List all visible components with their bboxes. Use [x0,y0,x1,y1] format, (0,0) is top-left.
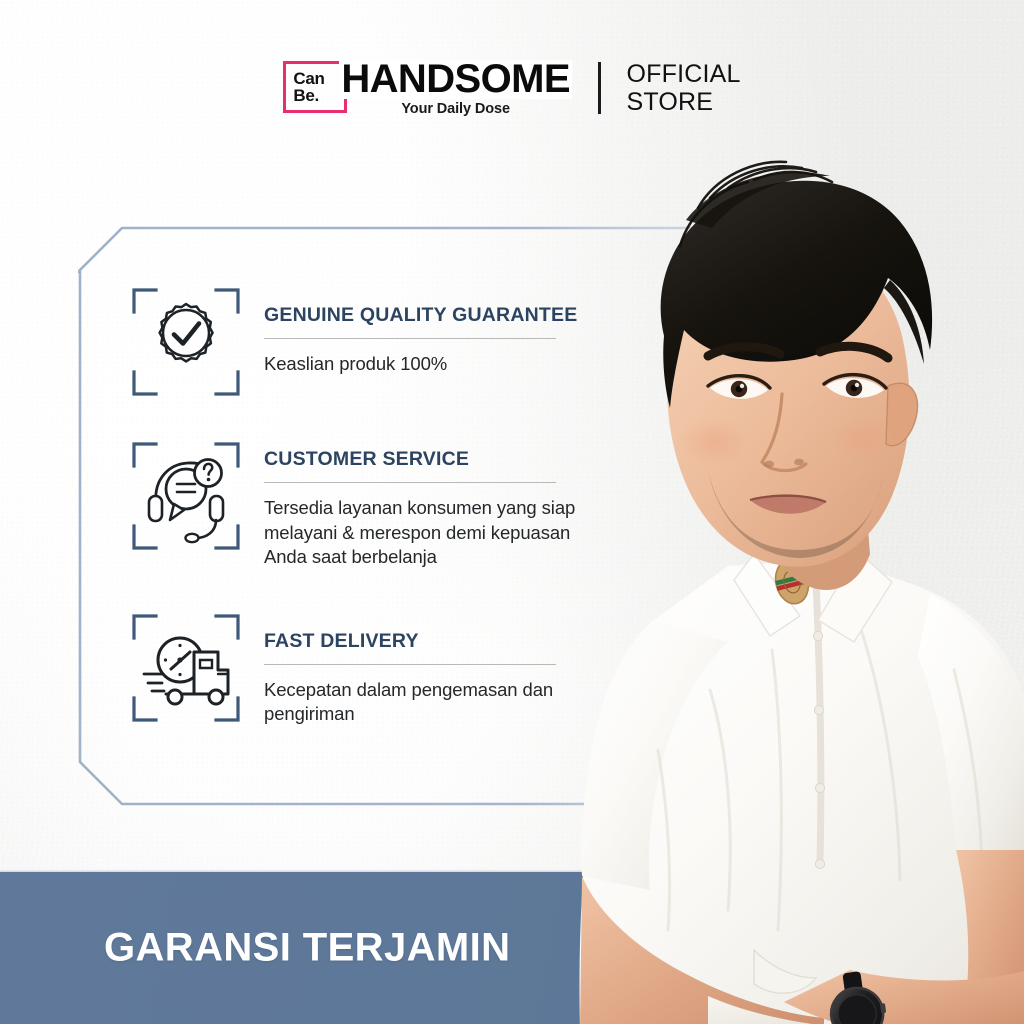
feature-title: FAST DELIVERY [264,630,600,653]
banner-title: GARANSI TERJAMIN [104,926,510,971]
cheek-left [680,418,748,466]
header-divider [598,62,601,114]
fast-delivery-truck-icon [130,612,242,724]
brand-logo-lockup[interactable]: Can Be. HANDSOME Your Daily Dose [283,58,572,117]
feature-body: FAST DELIVERY Kecepatan dalam pengemasan… [242,612,600,727]
truck-wheel-front [168,690,182,704]
nostril-right [794,459,804,466]
earcup-left [149,496,162,521]
model-photograph [558,150,1024,1024]
earcup-right [210,496,223,521]
brand-tagline: Your Daily Dose [401,101,510,117]
truck-wheel-rear [209,690,223,704]
feature-title: CUSTOMER SERVICE [264,448,600,471]
feature-description: Tersedia layanan konsumen yang siap mela… [264,496,576,570]
official-store-line-2: STORE [627,88,741,116]
feature-list: GENUINE QUALITY GUARANTEE Keaslian produ… [130,286,600,727]
feature-item-genuine-quality: GENUINE QUALITY GUARANTEE Keaslian produ… [130,286,600,398]
feature-item-customer-service: CUSTOMER SERVICE Tersedia layanan konsum… [130,440,600,570]
mic-capsule [186,534,199,542]
quality-badge-check-icon-wrap [130,286,242,398]
feature-divider [264,664,556,665]
poster-canvas: Can Be. HANDSOME Your Daily Dose OFFICIA… [0,0,1024,1024]
headset-support-icon-wrap [130,440,242,552]
nostril-left [764,461,774,468]
canbe-badge: Can Be. [283,61,347,113]
wordmark-wrapper: HANDSOME Your Daily Dose [339,58,572,117]
fast-delivery-truck-icon-wrap [130,612,242,724]
gauge-pivot [177,657,182,662]
official-store-line-1: OFFICIAL [627,60,741,88]
headset-support-icon [130,440,242,552]
feature-description: Keaslian produk 100% [264,352,576,377]
brand-wordmark: HANDSOME [339,60,572,99]
mic-boom [196,520,216,538]
question-mark-dot [207,478,211,482]
official-store-label: OFFICIAL STORE [627,60,741,116]
canbe-line-2: Be. [293,87,319,104]
feature-body: CUSTOMER SERVICE Tersedia layanan konsum… [242,440,600,570]
feature-description: Kecepatan dalam pengemasan dan pengirima… [264,678,576,727]
checkmark-icon [174,324,199,344]
feature-body: GENUINE QUALITY GUARANTEE Keaslian produ… [242,286,600,377]
speed-lines [144,674,164,691]
canbe-line-1: Can [293,70,324,87]
feature-title: GENUINE QUALITY GUARANTEE [264,304,600,327]
cheek-right [830,416,894,460]
quality-badge-check-icon [130,286,242,398]
brand-header: Can Be. HANDSOME Your Daily Dose OFFICIA… [0,58,1024,117]
feature-item-fast-delivery: FAST DELIVERY Kecepatan dalam pengemasan… [130,612,600,727]
feature-divider [264,338,556,339]
badge-scallop-outer [160,304,213,361]
feature-divider [264,482,556,483]
badge-inner-circle [163,310,209,356]
